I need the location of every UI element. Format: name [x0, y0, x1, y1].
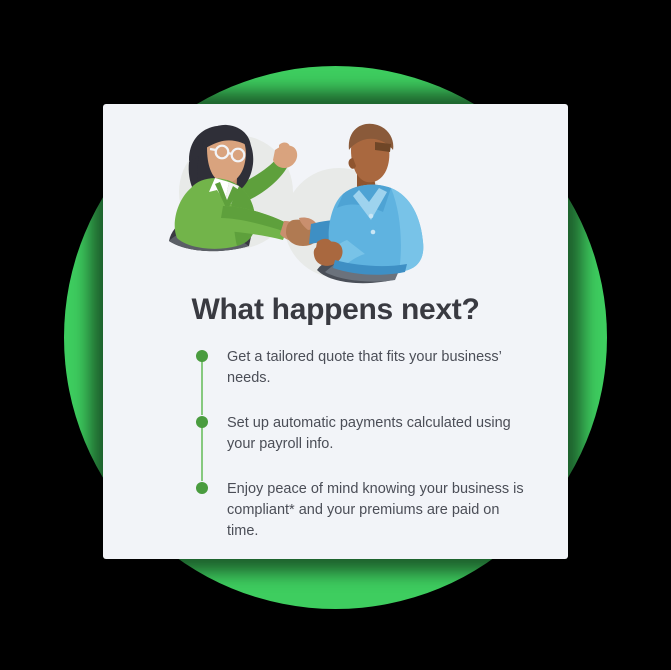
timeline-connector-line — [201, 422, 203, 481]
list-item-text: Get a tailored quote that fits your busi… — [227, 347, 526, 389]
list-item: Enjoy peace of mind knowing your busines… — [196, 479, 526, 542]
timeline-dot-icon — [196, 482, 208, 494]
timeline-dot-icon — [196, 350, 208, 362]
list-item-text: Set up automatic payments calculated usi… — [227, 413, 526, 455]
info-card: What happens next? Get a tailored quote … — [103, 104, 568, 559]
page-title: What happens next? — [103, 293, 568, 327]
list-item-text: Enjoy peace of mind knowing your busines… — [227, 479, 526, 542]
handshake-illustration — [103, 120, 568, 288]
timeline-list: Get a tailored quote that fits your busi… — [196, 347, 526, 542]
timeline-connector-line — [201, 356, 203, 415]
timeline-dot-icon — [196, 416, 208, 428]
list-item: Set up automatic payments calculated usi… — [196, 413, 526, 455]
list-item: Get a tailored quote that fits your busi… — [196, 347, 526, 389]
page-background: What happens next? Get a tailored quote … — [0, 0, 671, 670]
